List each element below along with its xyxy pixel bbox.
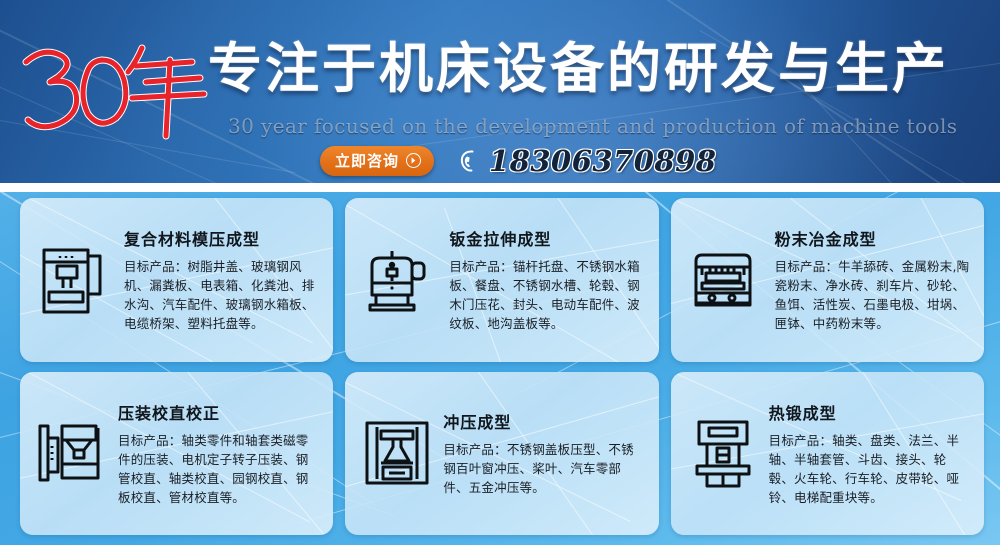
banner-cta-row: 立即咨询 18306370898 <box>320 144 716 178</box>
banner-headline: 专注于机床设备的研发与生产 <box>208 42 949 96</box>
product-card-grid: 复合材料模压成型 目标产品：树脂井盖、玻璃钢风机、漏粪板、电表箱、化粪池、排水沟… <box>0 192 1000 545</box>
product-card-desc: 目标产品：锚杆托盘、不锈钢水箱板、餐盘、不锈钢水槽、轮毂、钢木门压花、封头、电动… <box>449 257 644 333</box>
product-card-title: 热锻成型 <box>769 400 970 424</box>
product-card[interactable]: 压装校直校正 目标产品：轴类零件和轴套类磁零件的压装、电机定子转子压装、钢管校直… <box>20 372 333 536</box>
product-card-desc: 目标产品：树脂井盖、玻璃钢风机、漏粪板、电表箱、化粪池、排水沟、汽车配件、玻璃钢… <box>124 257 319 333</box>
hot-forging-press-icon <box>683 413 763 493</box>
phone-block[interactable]: 18306370898 <box>458 144 716 178</box>
product-card-desc: 目标产品：不锈钢盖板压型、不锈钢百叶窗冲压、桨叶、汽车零部件、五金冲压等。 <box>443 440 644 497</box>
stamping-press-icon <box>357 413 437 493</box>
product-card[interactable]: 复合材料模压成型 目标产品：树脂井盖、玻璃钢风机、漏粪板、电表箱、化粪池、排水沟… <box>20 198 333 362</box>
product-card[interactable]: 热锻成型 目标产品：轴类、盘类、法兰、半轴、半轴套管、斗齿、接头、轮毂、火车轮、… <box>671 372 984 536</box>
press-fit-straightening-machine-icon <box>32 413 112 493</box>
consult-now-label: 立即咨询 <box>335 150 399 171</box>
telephone-icon <box>458 149 480 173</box>
product-card-title: 压装校直校正 <box>118 400 319 424</box>
arrow-right-circle-icon <box>406 153 421 168</box>
product-card-title: 粉末冶金成型 <box>775 226 970 250</box>
years-badge <box>14 32 214 142</box>
products-section: 复合材料模压成型 目标产品：树脂井盖、玻璃钢风机、漏粪板、电表箱、化粪池、排水沟… <box>0 192 1000 545</box>
compression-molding-machine-icon <box>32 240 112 320</box>
product-card-text: 冲压成型 目标产品：不锈钢盖板压型、不锈钢百叶窗冲压、桨叶、汽车零部件、五金冲压… <box>443 409 644 497</box>
product-card-title: 复合材料模压成型 <box>124 226 319 250</box>
product-card-desc: 目标产品：牛羊舔砖、金属粉末,陶瓷粉末、净水砖、刹车片、砂轮、鱼饵、活性炭、石墨… <box>775 257 970 333</box>
header-banner: 专注于机床设备的研发与生产 30 year focused on the dev… <box>0 0 1000 183</box>
product-card-text: 粉末冶金成型 目标产品：牛羊舔砖、金属粉末,陶瓷粉末、净水砖、刹车片、砂轮、鱼饵… <box>769 226 970 333</box>
product-card[interactable]: 冲压成型 目标产品：不锈钢盖板压型、不锈钢百叶窗冲压、桨叶、汽车零部件、五金冲压… <box>345 372 658 536</box>
powder-metallurgy-press-icon <box>683 240 763 320</box>
section-divider <box>0 183 1000 192</box>
banner-subline: 30 year focused on the development and p… <box>228 114 957 138</box>
consult-now-button[interactable]: 立即咨询 <box>320 146 434 176</box>
sheet-metal-drawing-machine-icon <box>357 240 437 320</box>
phone-number: 18306370898 <box>489 144 716 178</box>
promo-banner-page: 专注于机床设备的研发与生产 30 year focused on the dev… <box>0 0 1000 545</box>
product-card-desc: 目标产品：轴类零件和轴套类磁零件的压装、电机定子转子压装、钢管校直、轴类校直、园… <box>118 431 319 507</box>
product-card-title: 钣金拉伸成型 <box>449 226 644 250</box>
product-card[interactable]: 钣金拉伸成型 目标产品：锚杆托盘、不锈钢水箱板、餐盘、不锈钢水槽、轮毂、钢木门压… <box>345 198 658 362</box>
product-card[interactable]: 粉末冶金成型 目标产品：牛羊舔砖、金属粉末,陶瓷粉末、净水砖、刹车片、砂轮、鱼饵… <box>671 198 984 362</box>
product-card-text: 热锻成型 目标产品：轴类、盘类、法兰、半轴、半轴套管、斗齿、接头、轮毂、火车轮、… <box>769 400 970 507</box>
product-card-text: 钣金拉伸成型 目标产品：锚杆托盘、不锈钢水箱板、餐盘、不锈钢水槽、轮毂、钢木门压… <box>443 226 644 333</box>
product-card-desc: 目标产品：轴类、盘类、法兰、半轴、半轴套管、斗齿、接头、轮毂、火车轮、行车轮、皮… <box>769 431 970 507</box>
product-card-title: 冲压成型 <box>443 409 644 433</box>
product-card-text: 压装校直校正 目标产品：轴类零件和轴套类磁零件的压装、电机定子转子压装、钢管校直… <box>118 400 319 507</box>
product-card-text: 复合材料模压成型 目标产品：树脂井盖、玻璃钢风机、漏粪板、电表箱、化粪池、排水沟… <box>118 226 319 333</box>
